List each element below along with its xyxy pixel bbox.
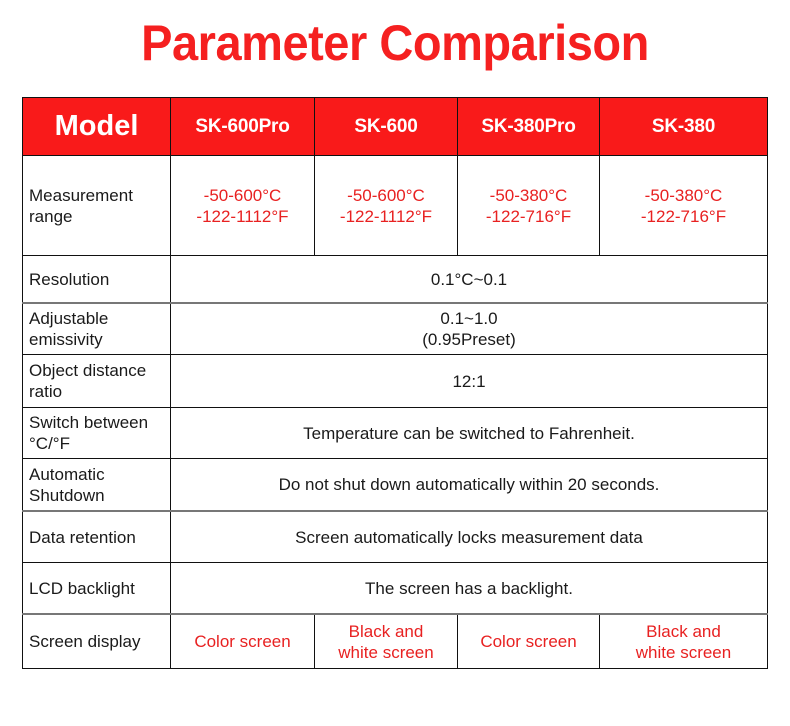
comparison-table-container: Model SK-600Pro SK-600 SK-380Pro SK-380 … <box>22 97 767 669</box>
table-row: Measurement range -50-600°C -122-1112°F … <box>23 156 768 256</box>
row-label-screen-display: Screen display <box>23 614 171 669</box>
table-header-row: Model SK-600Pro SK-600 SK-380Pro SK-380 <box>23 98 768 156</box>
cell-measurement-range-sk-380: -50-380°C -122-716°F <box>600 156 768 256</box>
row-label-automatic-shutdown: Automatic Shutdown <box>23 459 171 512</box>
cell-adjustable-emissivity-all-models: 0.1~1.0 (0.95Preset) <box>171 303 768 355</box>
cell-screen-display-sk-380: Black and white screen <box>600 614 768 669</box>
row-label-lcd-backlight: LCD backlight <box>23 563 171 615</box>
table-row: Switch between °C/°F Temperature can be … <box>23 408 768 459</box>
cell-lcd-backlight-all-models: The screen has a backlight. <box>171 563 768 615</box>
cell-resolution-all-models: 0.1°C~0.1 <box>171 256 768 304</box>
row-label-switch-between-c-f: Switch between °C/°F <box>23 408 171 459</box>
row-label-adjustable-emissivity: Adjustable emissivity <box>23 303 171 355</box>
cell-data-retention-all-models: Screen automatically locks measurement d… <box>171 511 768 563</box>
column-header-sk-600-pro: SK-600Pro <box>171 98 315 156</box>
table-row: Adjustable emissivity 0.1~1.0 (0.95Prese… <box>23 303 768 355</box>
column-header-model: Model <box>23 98 171 156</box>
table-row: Screen display Color screen Black and wh… <box>23 614 768 669</box>
column-header-sk-600: SK-600 <box>315 98 458 156</box>
table-row: Object distance ratio 12:1 <box>23 355 768 408</box>
parameter-comparison-table: Model SK-600Pro SK-600 SK-380Pro SK-380 … <box>22 97 768 669</box>
cell-measurement-range-sk-380-pro: -50-380°C -122-716°F <box>458 156 600 256</box>
cell-screen-display-sk-600: Black and white screen <box>315 614 458 669</box>
cell-screen-display-sk-600-pro: Color screen <box>171 614 315 669</box>
cell-screen-display-sk-380-pro: Color screen <box>458 614 600 669</box>
cell-measurement-range-sk-600-pro: -50-600°C -122-1112°F <box>171 156 315 256</box>
cell-object-distance-ratio-all-models: 12:1 <box>171 355 768 408</box>
cell-switch-between-c-f-all-models: Temperature can be switched to Fahrenhei… <box>171 408 768 459</box>
row-label-resolution: Resolution <box>23 256 171 304</box>
cell-measurement-range-sk-600: -50-600°C -122-1112°F <box>315 156 458 256</box>
cell-automatic-shutdown-all-models: Do not shut down automatically within 20… <box>171 459 768 512</box>
column-header-sk-380-pro: SK-380Pro <box>458 98 600 156</box>
row-label-object-distance-ratio: Object distance ratio <box>23 355 171 408</box>
row-label-data-retention: Data retention <box>23 511 171 563</box>
column-header-sk-380: SK-380 <box>600 98 768 156</box>
table-row: Automatic Shutdown Do not shut down auto… <box>23 459 768 512</box>
table-row: LCD backlight The screen has a backlight… <box>23 563 768 615</box>
row-label-measurement-range: Measurement range <box>23 156 171 256</box>
table-row: Resolution 0.1°C~0.1 <box>23 256 768 304</box>
table-row: Data retention Screen automatically lock… <box>23 511 768 563</box>
page-title: Parameter Comparison <box>24 14 767 72</box>
